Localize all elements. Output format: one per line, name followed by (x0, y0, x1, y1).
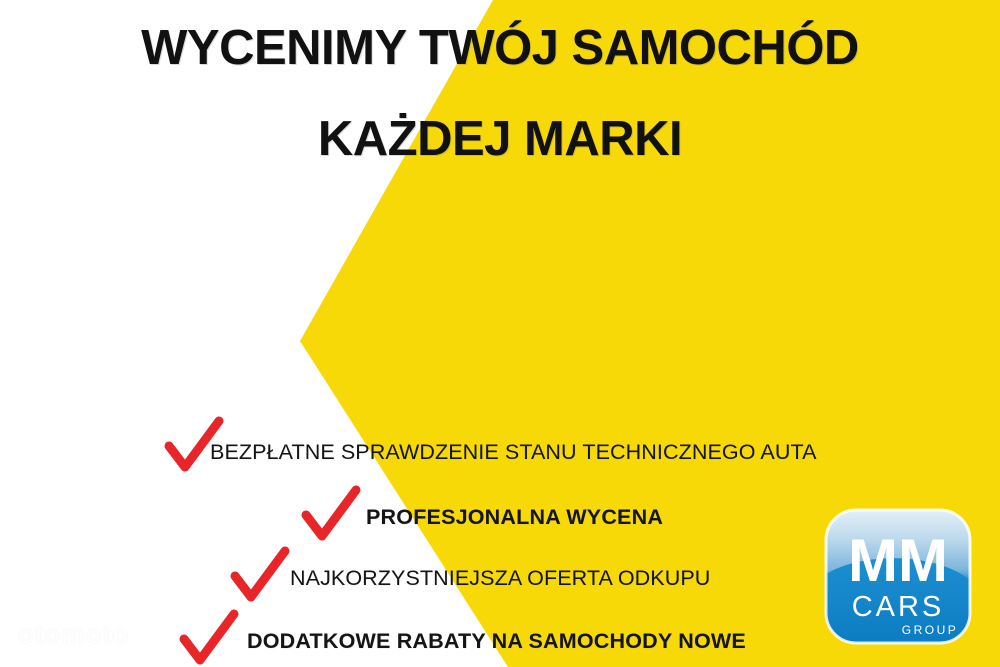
red-check-icon (181, 613, 237, 665)
list-item-label: DODATKOWE RABATY NA SAMOCHODY NOWE (247, 628, 746, 655)
red-check-icon (303, 489, 359, 541)
promo-banner: WYCENIMY TWÓJ SAMOCHÓD KAŻDEJ MARKI BEZP… (0, 0, 1000, 667)
svg-text:GROUP: GROUP (902, 623, 959, 637)
svg-text:CARS: CARS (852, 591, 945, 623)
mm-cars-group-logo[interactable]: MM CARS GROUP (822, 508, 974, 645)
list-item-label: PROFESJONALNA WYCENA (366, 504, 663, 531)
otomoto-watermark: otomoto (18, 619, 129, 650)
list-item-label: NAJKORZYSTNIEJSZA OFERTA ODKUPU (290, 565, 710, 592)
list-item-label: BEZPŁATNE SPRAWDZENIE STANU TECHNICZNEGO… (210, 439, 817, 466)
svg-text:MM: MM (848, 527, 948, 594)
red-check-icon (232, 550, 288, 602)
